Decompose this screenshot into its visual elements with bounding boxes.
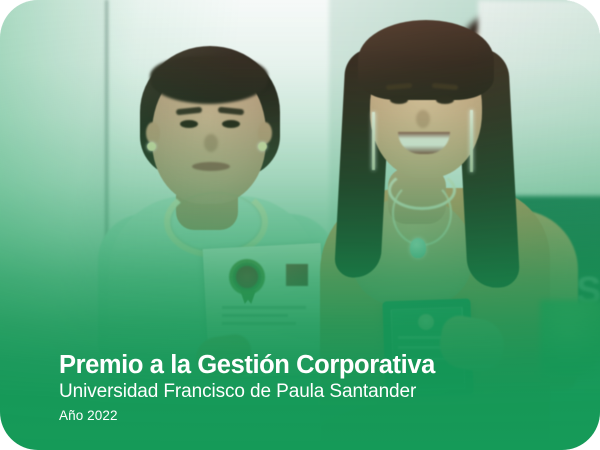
award-plaque-text-line [398, 346, 444, 349]
certificate-text-line [222, 322, 296, 325]
right-woman-earring [470, 110, 473, 172]
certificate-text-line [222, 306, 306, 309]
right-woman-earring [372, 112, 375, 170]
award-title: Premio a la Gestión Corporativa [59, 352, 560, 379]
certificate-text-line [222, 314, 288, 317]
caption-block: Premio a la Gestión Corporativa Universi… [59, 352, 560, 424]
award-year: Año 2022 [59, 409, 560, 424]
left-woman-ear [258, 122, 272, 144]
left-woman-eye [180, 120, 198, 128]
right-woman-nose [416, 110, 430, 128]
award-institution: Universidad Francisco de Paula Santander [59, 381, 560, 403]
left-woman-hair-fringe [150, 56, 268, 104]
right-woman-eye [390, 96, 408, 104]
left-woman-ear [146, 122, 160, 144]
left-woman-earring [258, 142, 267, 151]
right-woman-necklace [392, 180, 452, 246]
award-plaque-crest-icon [418, 314, 434, 330]
left-woman-nose [204, 134, 218, 152]
left-woman-earring [147, 142, 156, 151]
award-photo-card: UFPS Universidad [0, 0, 600, 450]
background-wall-seam [104, 0, 109, 250]
right-woman-hair-top [358, 20, 494, 100]
certificate-logo-mark [286, 264, 308, 286]
left-woman-eye [222, 120, 240, 128]
right-woman-pendant [410, 238, 426, 258]
right-woman-eye [436, 96, 454, 104]
certificate-seal-icon [232, 262, 262, 292]
left-woman-mouth [192, 162, 230, 171]
